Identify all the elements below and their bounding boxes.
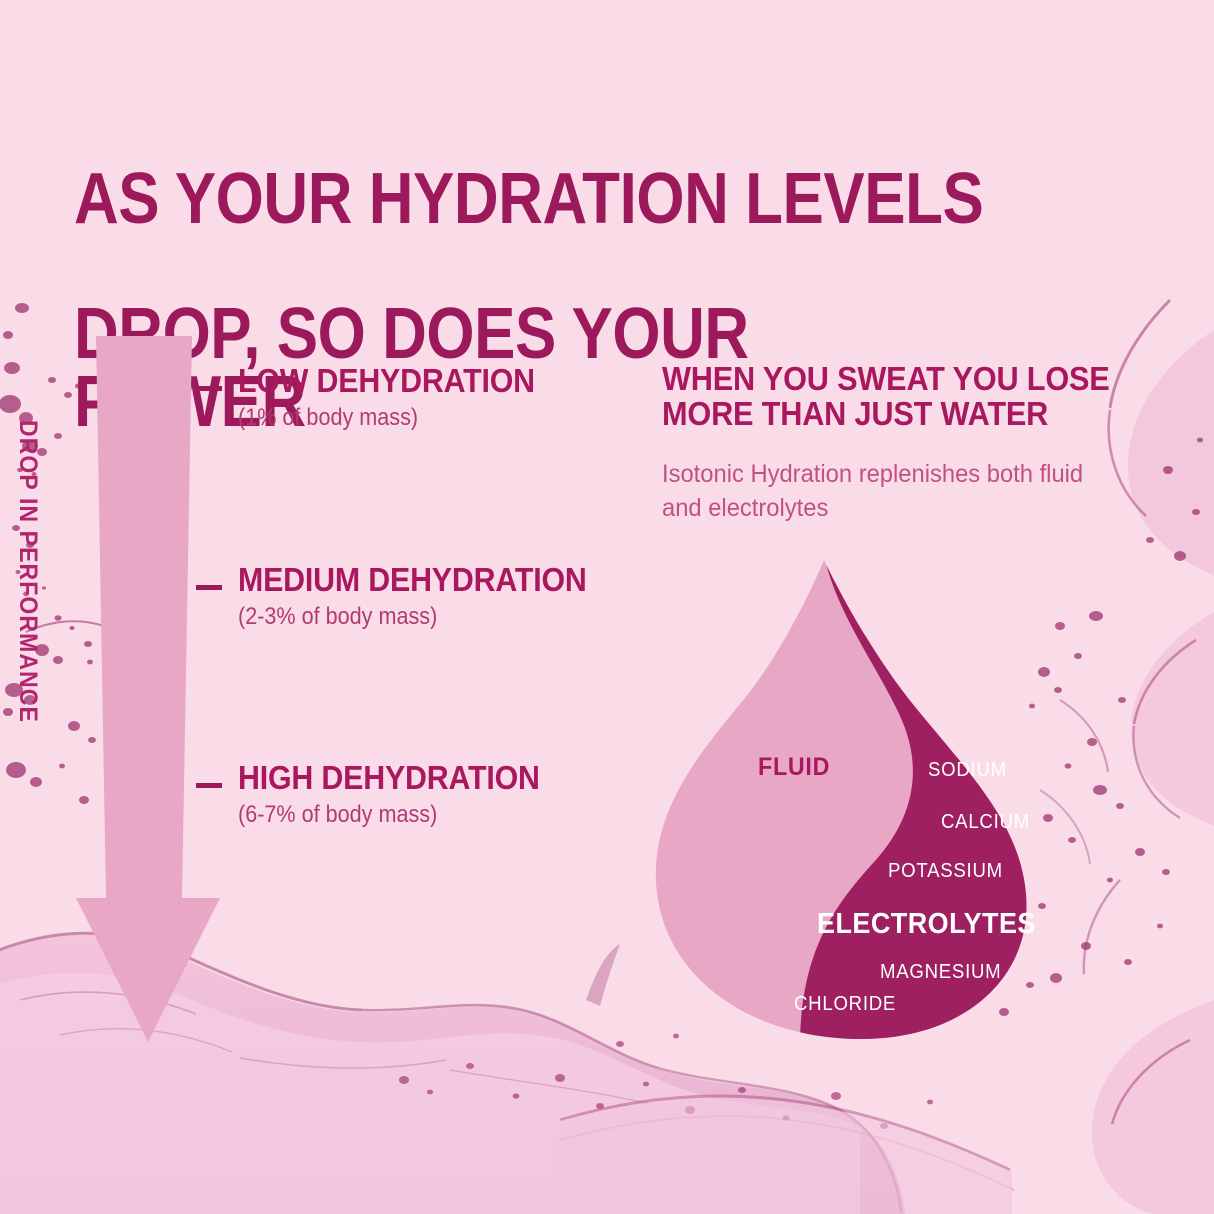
level-subtitle: (1% of body mass) xyxy=(238,406,668,430)
tick-dash-icon xyxy=(196,386,222,391)
arrow-caption-label: DROP IN PERFORMANCE xyxy=(14,420,43,723)
arrow-shape xyxy=(76,336,220,1042)
isotonic-body-line-1: Isotonic Hydration replenishes both flui… xyxy=(662,458,1109,492)
ion-label-calcium: CALCIUM xyxy=(941,811,1030,834)
isotonic-body-line-2: and electrolytes xyxy=(662,492,1109,526)
level-subtitle: (6-7% of body mass) xyxy=(238,803,668,827)
level-title: MEDIUM DEHYDRATION xyxy=(238,563,678,596)
level-item-high: HIGH DEHYDRATION (6-7% of body mass) xyxy=(196,761,716,827)
hydration-infographic: AS YOUR HYDRATION LEVELS DROP, SO DOES Y… xyxy=(0,0,1214,1214)
ion-label-potassium: POTASSIUM xyxy=(888,860,1003,883)
level-item-low: LOW DEHYDRATION (1% of body mass) xyxy=(196,364,716,430)
ion-label-sodium: SODIUM xyxy=(928,759,1007,782)
sweat-heading-line-2: MORE THAN JUST WATER xyxy=(662,397,1099,432)
droplet-electrolytes-label: ELECTROLYTES xyxy=(817,908,1036,941)
isotonic-body-text: Isotonic Hydration replenishes both flui… xyxy=(662,458,1109,526)
level-item-medium: MEDIUM DEHYDRATION (2-3% of body mass) xyxy=(196,563,716,629)
arrow-caption: DROP IN PERFORMANCE xyxy=(0,420,56,820)
tick-dash-icon xyxy=(196,783,222,788)
droplet-fluid-label: FLUID xyxy=(758,753,830,782)
headline-line-1: AS YOUR HYDRATION LEVELS xyxy=(74,166,986,234)
sweat-heading: WHEN YOU SWEAT YOU LOSE MORE THAN JUST W… xyxy=(662,362,1099,432)
tick-dash-icon xyxy=(196,585,222,590)
ion-label-magnesium: MAGNESIUM xyxy=(880,961,1001,984)
sweat-heading-line-1: WHEN YOU SWEAT YOU LOSE xyxy=(662,362,1099,397)
drop-in-performance-arrow xyxy=(74,336,244,1048)
level-title: HIGH DEHYDRATION xyxy=(238,761,678,794)
level-title: LOW DEHYDRATION xyxy=(238,364,678,397)
level-subtitle: (2-3% of body mass) xyxy=(238,605,668,629)
ion-label-chloride: CHLORIDE xyxy=(794,993,896,1016)
